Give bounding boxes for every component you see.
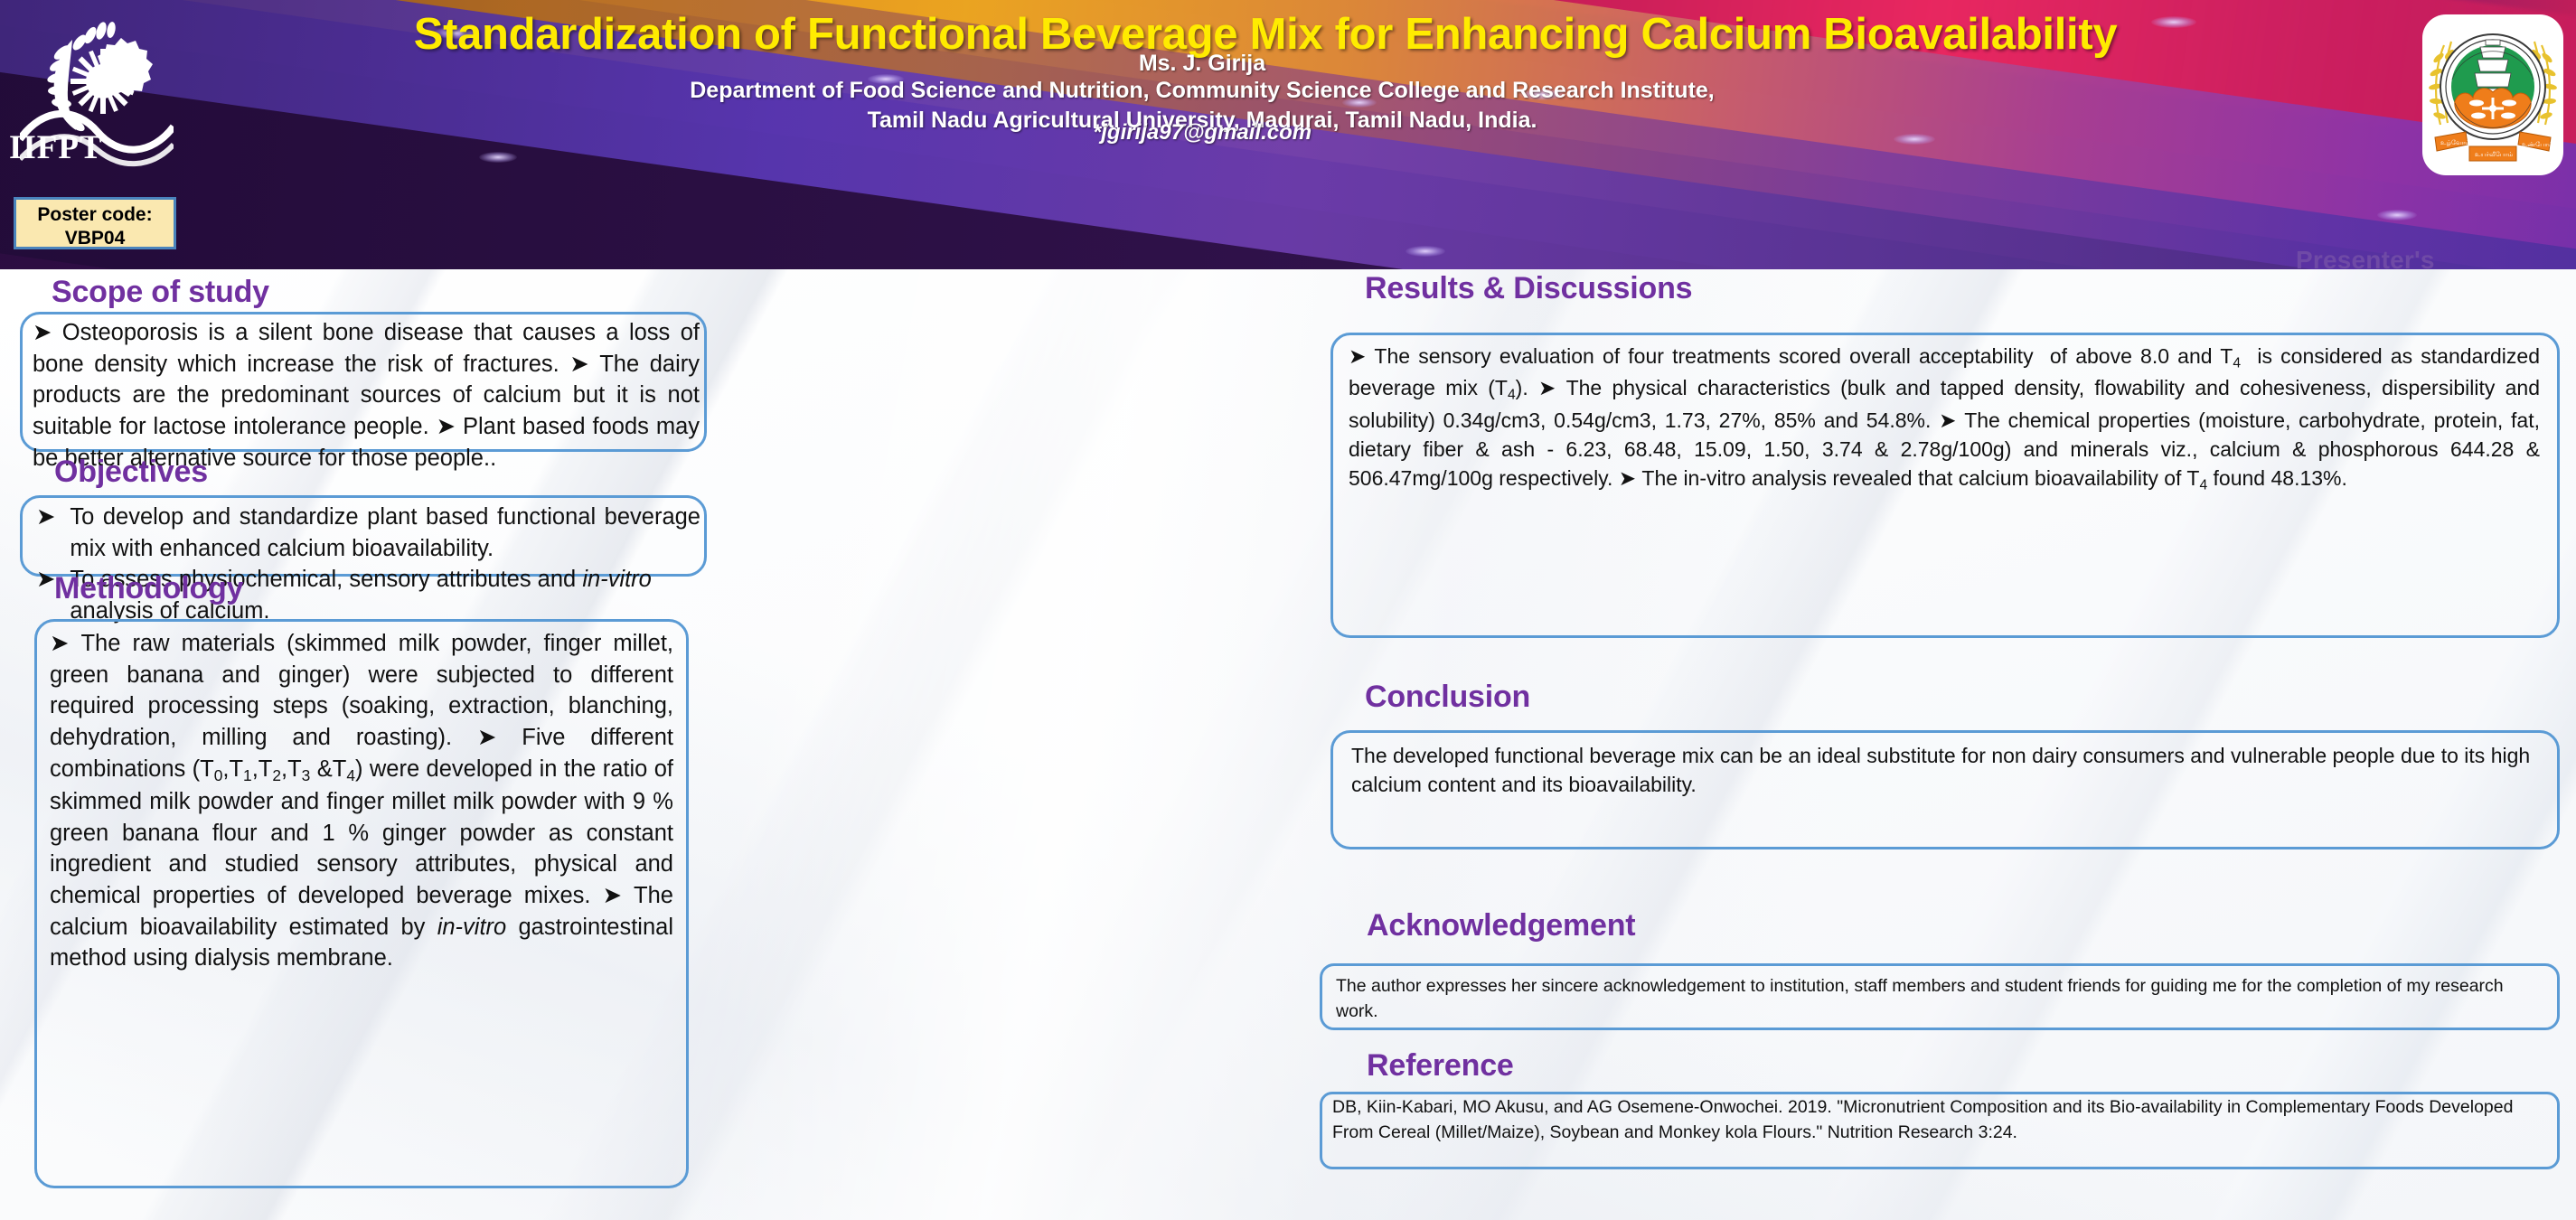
tnau-logo: உழ்வோம் உண்போம் உயர்வீபோம் — [2422, 14, 2563, 175]
objectives-text: ➤ To develop and standardize plant based… — [36, 502, 700, 627]
scope-text: ➤ Osteoporosis is a silent bone disease … — [33, 317, 700, 474]
methodology-bullet-2: ➤ Five different combinations (T0,T1,T2,… — [50, 725, 673, 908]
conference-poster: IIFPT Poster code: VBP04 Standardization… — [0, 0, 2576, 1220]
section-heading-acknowledgement: Acknowledgement — [1367, 908, 1635, 943]
section-heading-scope: Scope of study — [52, 275, 269, 310]
bullet-arrow-icon: ➤ — [36, 502, 55, 564]
section-heading-objectives: Objectives — [54, 455, 208, 490]
bullet-arrow-icon: ➤ — [36, 564, 55, 626]
poster-header: IIFPT Poster code: VBP04 Standardization… — [0, 0, 2576, 269]
acknowledgement-text: The author expresses her sincere acknowl… — [1336, 974, 2547, 1024]
methodology-text: ➤ The raw materials (skimmed milk powder… — [50, 628, 673, 974]
conclusion-text: The developed functional beverage mix ca… — [1351, 741, 2537, 799]
section-heading-reference: Reference — [1367, 1048, 1514, 1084]
tnau-emblem-icon: உழ்வோம் உண்போம் உயர்வீபோம் — [2422, 14, 2563, 175]
presenters-label: Presenter's — [2296, 246, 2435, 269]
results-text: ➤ The sensory evaluation of four treatme… — [1349, 342, 2540, 495]
affiliation-line-1: Department of Food Science and Nutrition… — [163, 76, 2242, 106]
poster-code-value: VBP04 — [16, 227, 174, 250]
svg-text:உழ்வோம்: உழ்வோம் — [2440, 140, 2470, 146]
svg-text:உயர்வீபோம்: உயர்வீபோம் — [2475, 151, 2514, 158]
section-heading-results: Results & Discussions — [1365, 271, 1692, 306]
results-bullet-4: ➤ The in-vitro analysis revealed that ca… — [1619, 466, 2347, 490]
iifpt-logo-text: IIFPT — [9, 128, 103, 167]
poster-code-label: Poster code: — [16, 203, 174, 227]
objectives-bullet-1: ➤ To develop and standardize plant based… — [36, 502, 700, 564]
poster-code-box: Poster code: VBP04 — [14, 197, 176, 249]
section-heading-conclusion: Conclusion — [1365, 680, 1530, 715]
author-name: Ms. J. Girija — [163, 51, 2242, 77]
author-email: *jgirija97@gmail.com — [163, 120, 2242, 145]
svg-text:உண்போம்: உண்போம் — [2522, 142, 2553, 148]
section-heading-methodology: Methodology — [54, 571, 243, 606]
reference-text: DB, Kiin-Kabari, MO Akusu, and AG Osemen… — [1332, 1095, 2551, 1145]
